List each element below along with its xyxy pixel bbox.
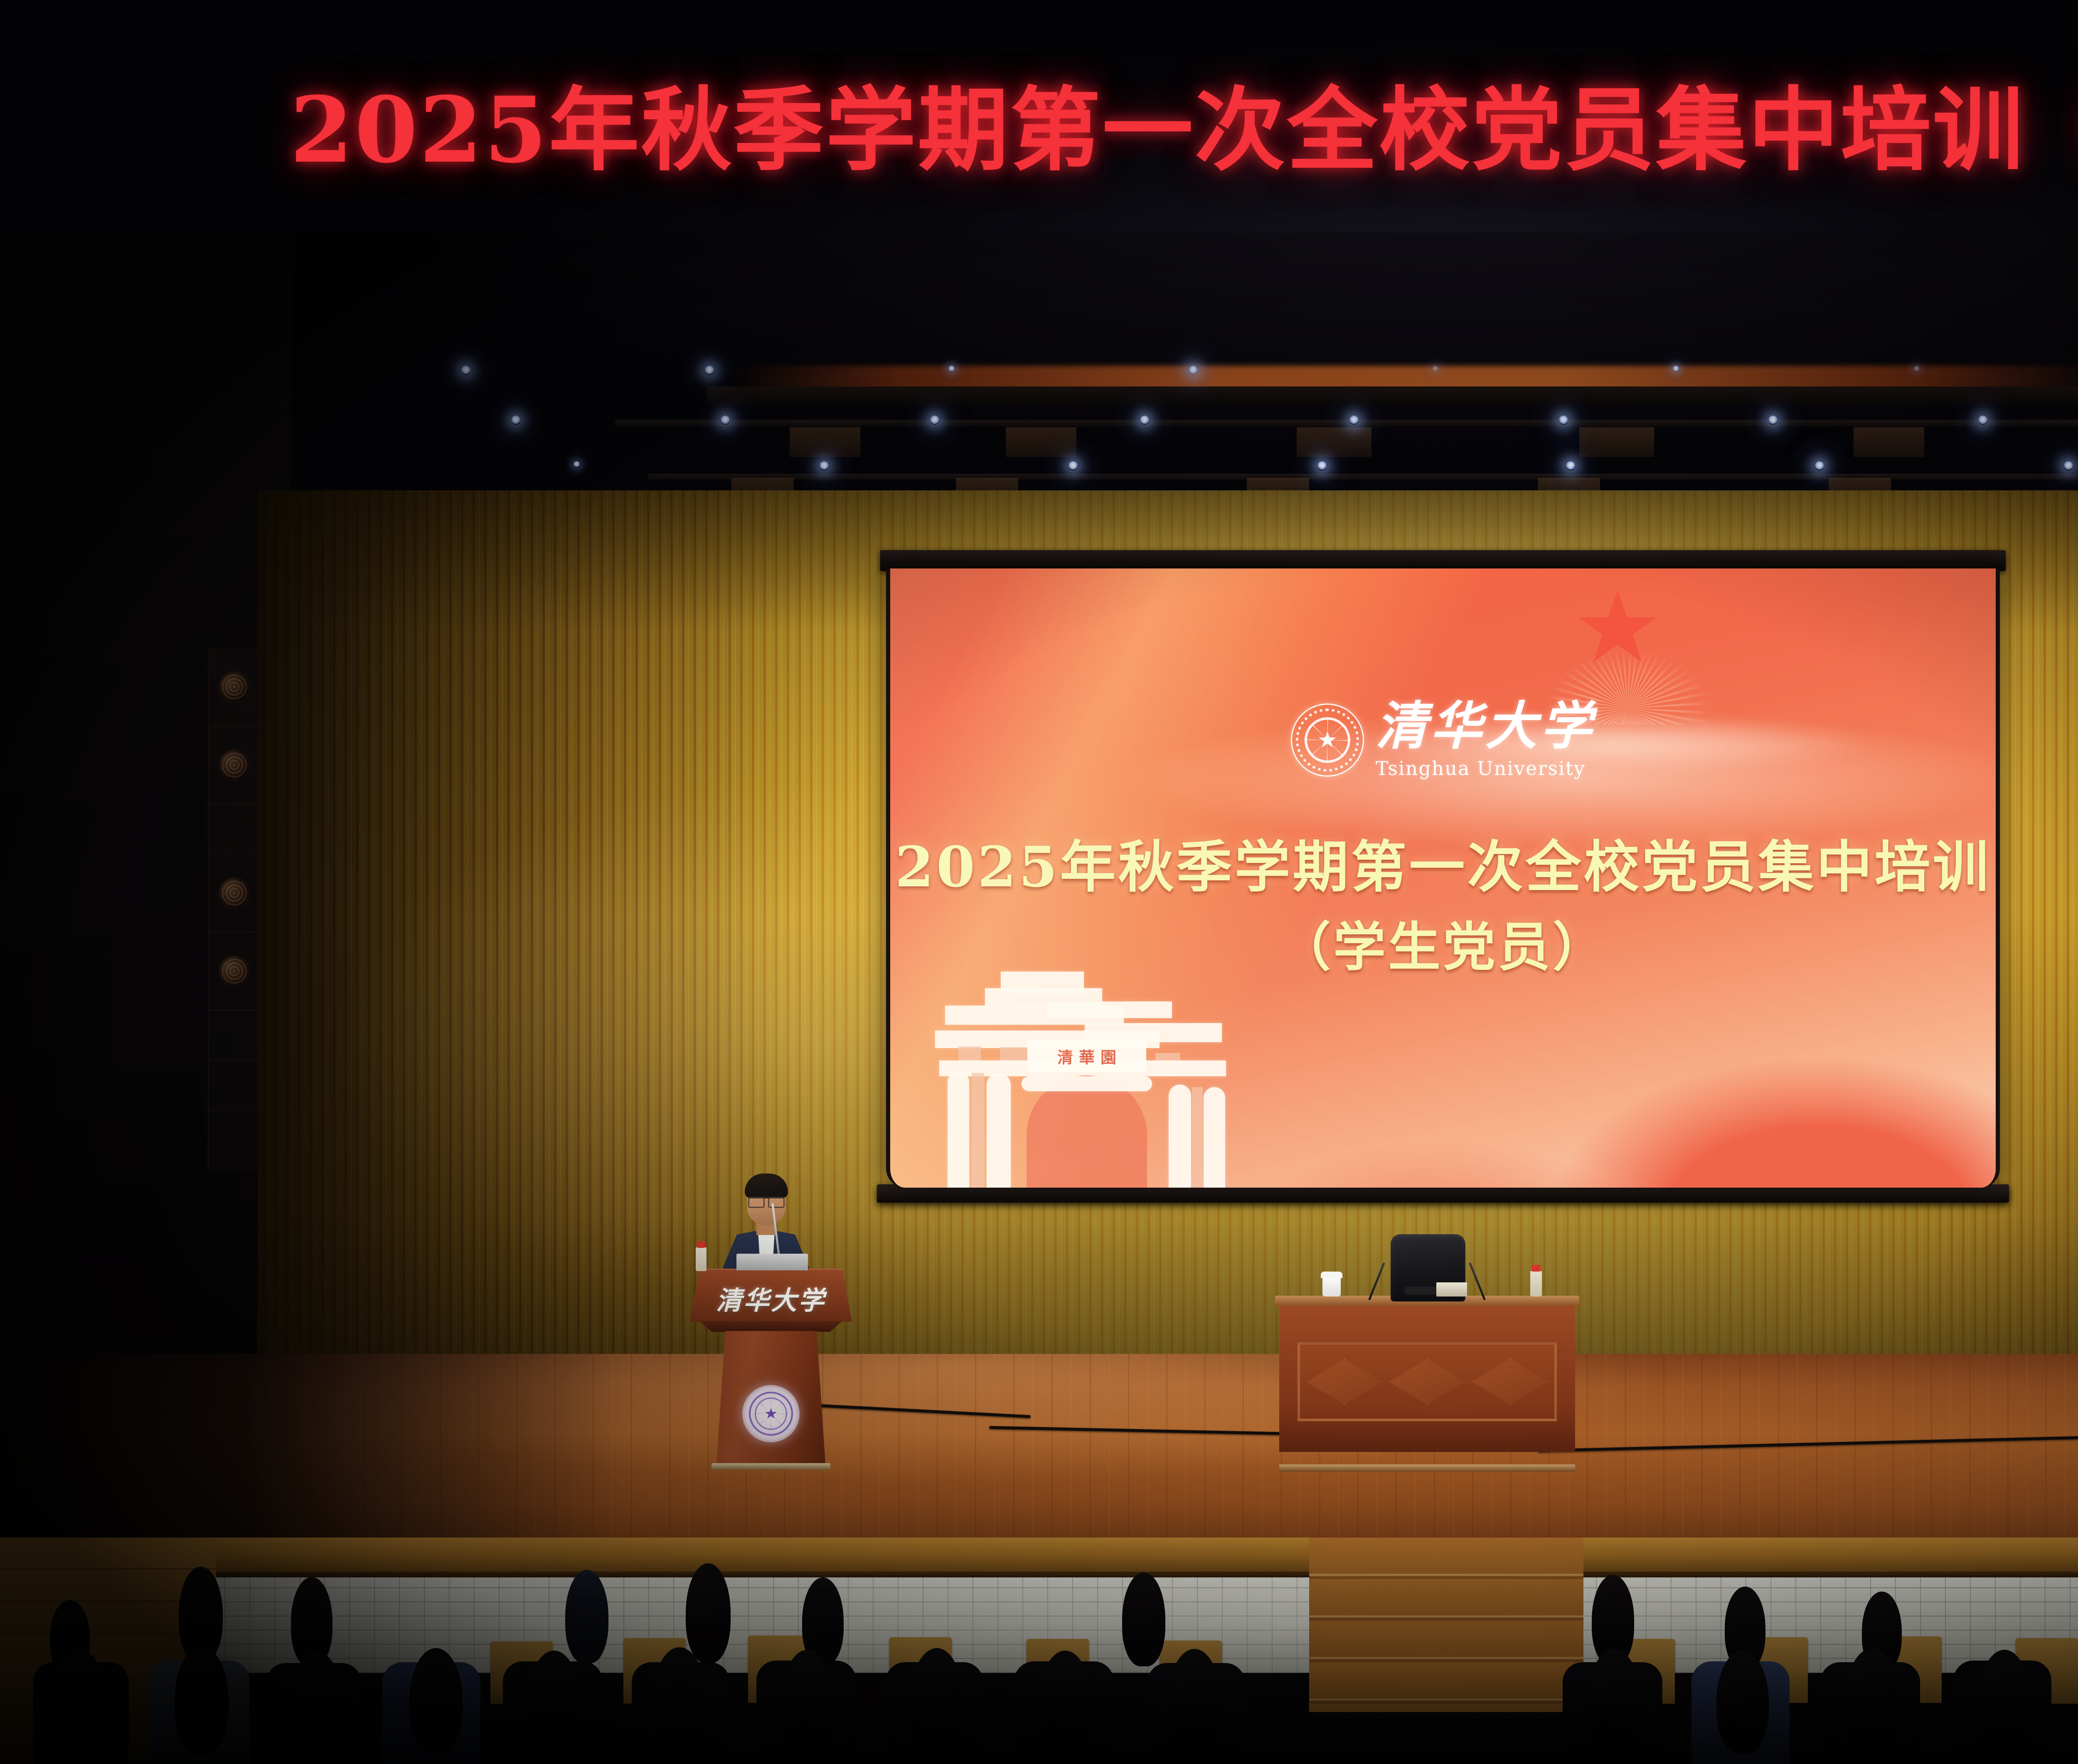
banner-strip: 2025年秋季学期第一次全校党员集中培训（学生党员） — [0, 0, 2078, 233]
logo-chinese-name: 清华大学 — [1376, 701, 1595, 752]
stage-lamp — [1673, 366, 1679, 372]
water-bottle-cap — [697, 1241, 705, 1248]
gate-brick-pier — [1192, 1087, 1203, 1188]
ceiling-light-row-1 — [461, 366, 2078, 375]
water-bottle-cap — [1531, 1265, 1541, 1272]
stage-lamp — [1069, 461, 1078, 470]
audience-head — [686, 1563, 731, 1663]
audience-head — [54, 1650, 106, 1754]
ceiling-fixture-face — [790, 427, 860, 457]
par-light-icon — [219, 956, 250, 987]
audience-head — [1845, 1648, 1899, 1754]
eyeglasses-icon — [748, 1197, 785, 1205]
gate-column — [987, 1073, 1011, 1188]
water-bottle — [696, 1247, 707, 1271]
speaker-hair — [745, 1174, 788, 1198]
par-light-icon — [219, 750, 250, 780]
audience-head — [291, 1651, 342, 1754]
stage-lamp — [1566, 461, 1575, 470]
ceiling-fixture-face — [1297, 427, 1371, 457]
par-light-icon — [219, 878, 250, 908]
audience-head — [652, 1647, 707, 1754]
stage-lamp — [1559, 416, 1568, 425]
stage-lamp — [2064, 461, 2073, 470]
audience-head — [175, 1646, 229, 1754]
stage-lamp — [1317, 461, 1327, 470]
audience-head — [528, 1651, 580, 1754]
tsinghua-seal-icon — [742, 1385, 800, 1442]
gate-plaque-char: 華 — [1079, 1045, 1095, 1068]
audience-head — [1168, 1649, 1221, 1754]
conference-table — [1279, 1296, 1575, 1466]
presentation-slide: 清华大学 Tsinghua University 2025年秋季学期第一次全校党… — [890, 568, 1996, 1188]
stage-lamp — [574, 461, 580, 467]
valance-bar — [707, 386, 2078, 406]
lectern-base — [712, 1463, 830, 1470]
tsinghua-logo: 清华大学 Tsinghua University — [890, 701, 1996, 780]
diamond-ornament — [1307, 1359, 1382, 1405]
gate-brick-pier — [972, 1073, 984, 1188]
audience-head — [409, 1648, 463, 1754]
par-light-icon — [219, 672, 250, 702]
ceiling-fixture-face — [1854, 427, 1924, 457]
gate-archway — [1027, 1075, 1147, 1188]
ceiling-light-row-2 — [511, 416, 2078, 425]
stage-lamp — [1978, 416, 1987, 425]
audience-head — [1039, 1651, 1091, 1754]
stage-lamp — [1140, 416, 1149, 425]
tea-cup — [1322, 1277, 1341, 1297]
stage-lamp — [1432, 366, 1438, 372]
gate-plaque-char: 清 — [1057, 1045, 1073, 1068]
gate-column — [1204, 1087, 1225, 1188]
screen-frame: 清华大学 Tsinghua University 2025年秋季学期第一次全校党… — [886, 568, 2000, 1188]
gate-column — [948, 1071, 969, 1188]
lectern-body — [716, 1331, 825, 1464]
stage-lamp — [721, 416, 730, 425]
gate-plaque-char: 園 — [1101, 1045, 1116, 1068]
audience-head — [1588, 1649, 1641, 1754]
auditorium-scene: 清华大学 Tsinghua University 2025年秋季学期第一次全校党… — [0, 0, 2078, 1764]
stage-lamp — [948, 366, 955, 372]
wall-wood-panel — [0, 1538, 2078, 1573]
gate-arch-ring — [1022, 1076, 1152, 1091]
audience-head — [781, 1650, 834, 1754]
audience-head — [1122, 1572, 1165, 1666]
audience-head — [1978, 1650, 2031, 1754]
lectern-name-text: 清华大学 — [690, 1279, 852, 1317]
seal-star-icon — [765, 1408, 777, 1420]
audience-area — [0, 1538, 2078, 1764]
ceiling-light-row-3 — [574, 461, 2078, 470]
projection-screen: 清华大学 Tsinghua University 2025年秋季学期第一次全校党… — [886, 568, 2000, 1188]
gate-column — [1169, 1085, 1191, 1188]
logo-text-block: 清华大学 Tsinghua University — [1376, 701, 1595, 780]
audience-head — [910, 1648, 963, 1754]
slide-title: 2025年秋季学期第一次全校党员集中培训 — [890, 822, 1996, 903]
stage-lamp — [461, 366, 470, 375]
tea-cup-lid — [1321, 1272, 1342, 1278]
table-base-trim — [1279, 1464, 1575, 1472]
stage-lamp — [1913, 366, 1920, 372]
stage-lamp — [1815, 461, 1824, 470]
audience-head — [565, 1570, 608, 1663]
banner-title-text: 2025年秋季学期第一次全校党员集中培训（学生党员） — [0, 81, 2078, 179]
gate-name-plaque: 清 華 園 — [1027, 1040, 1146, 1072]
stage-lamp — [930, 416, 939, 425]
diamond-ornament — [1389, 1359, 1465, 1405]
stage-lamp — [1349, 416, 1359, 425]
name-plate — [1436, 1282, 1467, 1297]
stage-lamp — [511, 416, 520, 425]
lectern-lip — [693, 1321, 849, 1332]
audience-head — [1716, 1651, 1769, 1754]
gate-cornice — [1047, 1001, 1172, 1018]
table-front-panel — [1279, 1306, 1575, 1452]
stage-lamp — [1768, 416, 1778, 425]
screen-roller-housing — [880, 550, 2006, 571]
stage-lamp — [1189, 366, 1198, 375]
diamond-ornament — [1472, 1359, 1548, 1405]
tsinghua-seal-icon — [1291, 704, 1364, 777]
water-bottle — [1530, 1271, 1542, 1297]
laptop-device — [736, 1254, 808, 1270]
stage-lamp — [820, 461, 829, 470]
stage-lamp — [705, 366, 714, 375]
table-decorative-panel — [1298, 1342, 1557, 1421]
tsinghua-gate-illustration: 清 華 園 — [923, 955, 1238, 1188]
logo-english-name: Tsinghua University — [1376, 757, 1586, 780]
stage-steps — [1309, 1538, 1583, 1712]
ceiling-fixture-face — [1006, 427, 1076, 457]
ceiling-fixture-face — [1579, 427, 1654, 457]
lectern: 清华大学 — [690, 1269, 852, 1464]
